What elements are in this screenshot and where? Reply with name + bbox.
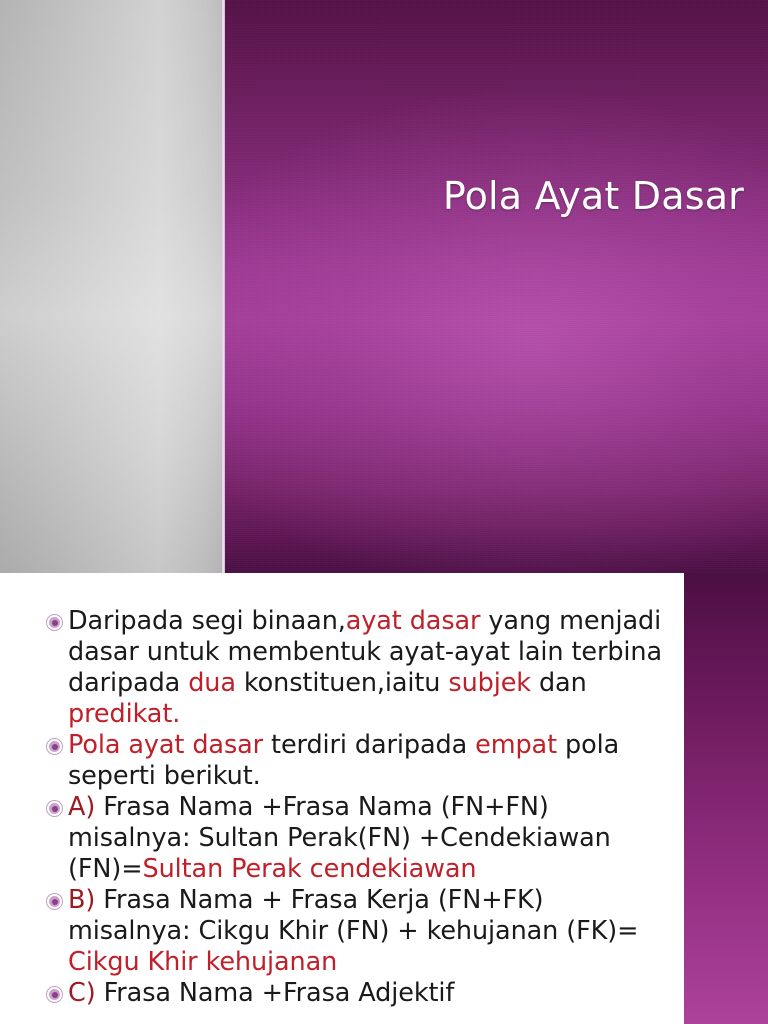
text-run: C) bbox=[68, 978, 96, 1008]
text-run: B) bbox=[68, 885, 95, 915]
bullet-paragraph: B) Frasa Nama + Frasa Kerja (FN+FK) misa… bbox=[68, 885, 668, 978]
slide-body: Daripada segi binaan,ayat dasar yang men… bbox=[0, 573, 684, 1024]
text-run: Frasa Nama +Frasa Adjektif bbox=[96, 978, 455, 1008]
text-run: ayat dasar bbox=[346, 606, 481, 636]
text-run: Daripada segi binaan, bbox=[68, 606, 346, 636]
slide-title: Pola Ayat Dasar bbox=[260, 173, 744, 219]
bullet-marker bbox=[47, 615, 62, 630]
bullet-paragraph: Daripada segi binaan,ayat dasar yang men… bbox=[68, 606, 668, 730]
text-run: terdiri daripada bbox=[263, 730, 475, 760]
text-run: subjek bbox=[448, 668, 531, 698]
title-banner: Pola Ayat Dasar bbox=[0, 0, 768, 573]
bullet-paragraph: A) Frasa Nama +Frasa Nama (FN+FN) misaln… bbox=[68, 792, 668, 885]
text-run: predikat. bbox=[68, 699, 180, 729]
bottom-fade bbox=[0, 1014, 684, 1024]
bullet-paragraph: Pola ayat dasar terdiri daripada empat p… bbox=[68, 730, 668, 792]
text-run: A) bbox=[68, 792, 95, 822]
bullet-marker bbox=[47, 739, 62, 754]
text-run: Pola ayat dasar bbox=[68, 730, 263, 760]
banner-silver-panel bbox=[0, 0, 222, 573]
text-run: Frasa Nama + Frasa Kerja (FN+FK) misalny… bbox=[68, 885, 638, 946]
bullet-marker bbox=[47, 894, 62, 909]
right-purple-strip bbox=[684, 573, 768, 1024]
bullet-paragraph: C) Frasa Nama +Frasa Adjektif bbox=[68, 978, 668, 1009]
text-run: Cikgu Khir kehujanan bbox=[68, 947, 337, 977]
slide: Pola Ayat Dasar Daripada segi binaan,aya… bbox=[0, 0, 768, 1024]
text-run: dan bbox=[531, 668, 587, 698]
text-run: dua bbox=[188, 668, 236, 698]
banner-purple-panel bbox=[225, 0, 768, 573]
bullet-marker bbox=[47, 801, 62, 816]
text-run: Sultan Perak cendekiawan bbox=[143, 854, 477, 884]
text-run: empat bbox=[475, 730, 557, 760]
text-run: konstituen,iaitu bbox=[236, 668, 448, 698]
bullet-marker bbox=[47, 987, 62, 1002]
